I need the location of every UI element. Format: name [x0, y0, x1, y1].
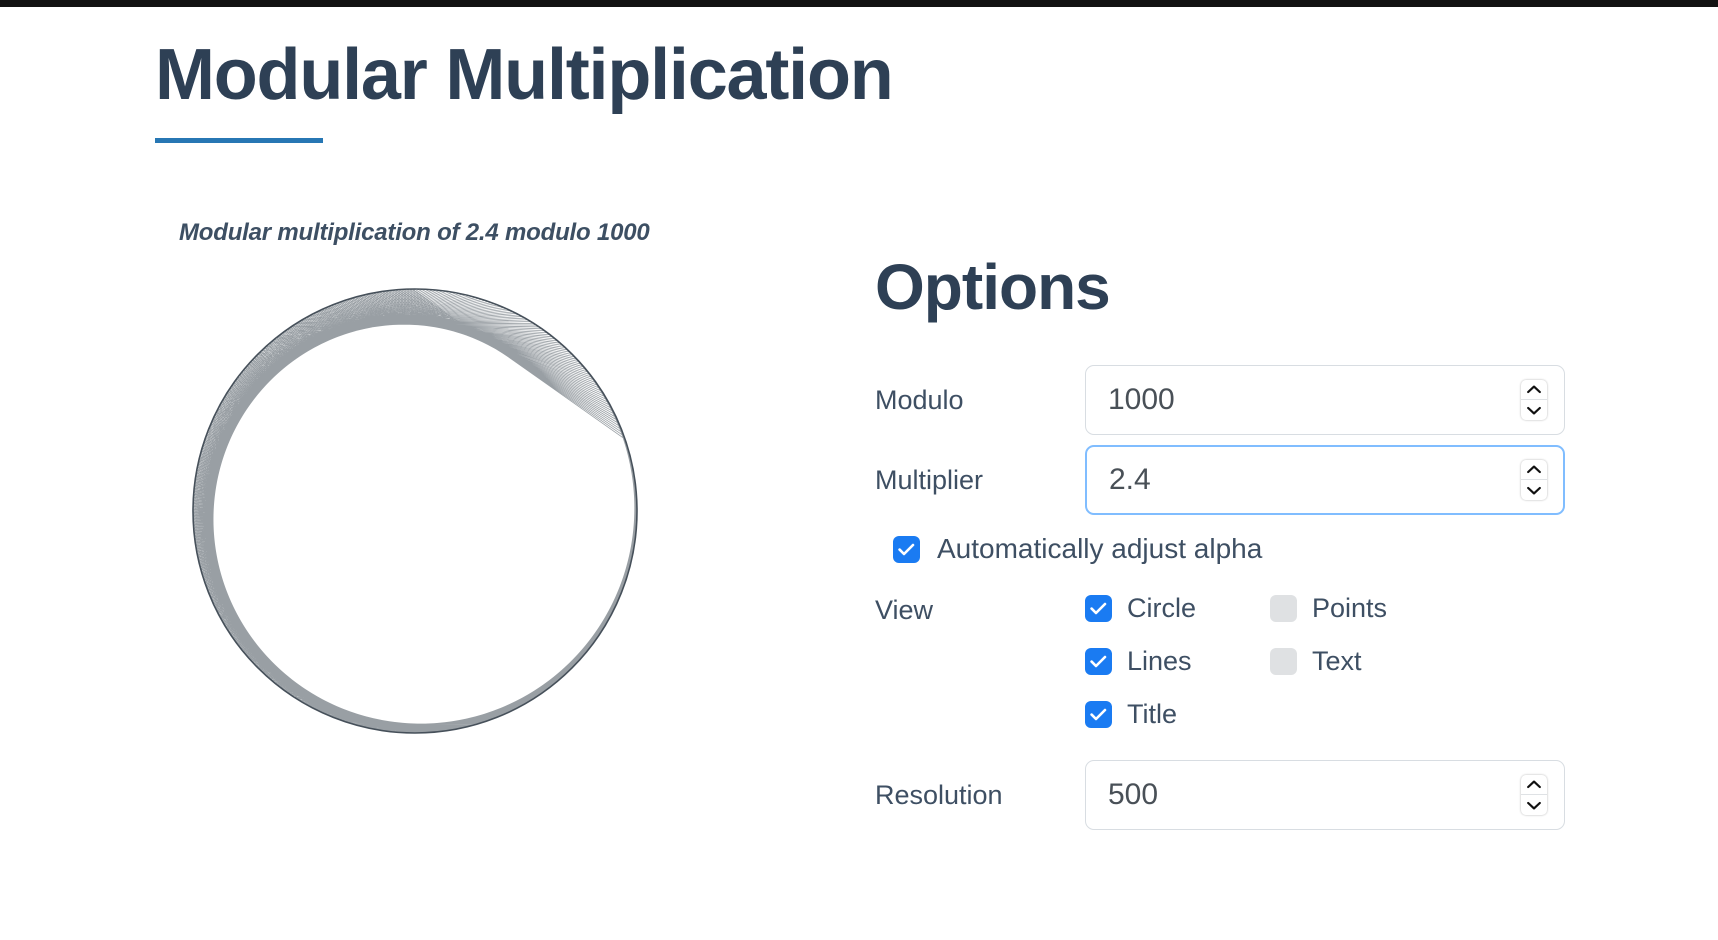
view-checkbox-grid: Circle Points Lines Text: [1085, 593, 1387, 730]
auto-alpha-checkbox[interactable]: [893, 536, 920, 563]
modulo-input[interactable]: [1085, 365, 1565, 435]
options-pane: Options Modulo: [875, 255, 1595, 840]
modulo-row: Modulo: [875, 365, 1595, 435]
figure-title: Modular multiplication of 2.4 modulo 100…: [179, 219, 855, 247]
multiplier-stepper[interactable]: [1521, 460, 1547, 500]
circle-label: Circle: [1127, 593, 1196, 624]
resolution-row: Resolution: [875, 760, 1595, 830]
multiplier-input[interactable]: [1085, 445, 1565, 515]
view-item-title[interactable]: Title: [1085, 699, 1270, 730]
resolution-stepper-down[interactable]: [1521, 795, 1547, 815]
check-icon: [898, 543, 915, 556]
view-row: View Circle Points: [875, 593, 1595, 730]
resolution-stepper[interactable]: [1521, 775, 1547, 815]
chord-path: [193, 289, 637, 733]
resolution-stepper-up[interactable]: [1521, 775, 1547, 795]
points-checkbox[interactable]: [1270, 595, 1297, 622]
view-item-circle[interactable]: Circle: [1085, 593, 1270, 624]
lines-label: Lines: [1127, 646, 1192, 677]
auto-alpha-row[interactable]: Automatically adjust alpha: [893, 533, 1595, 565]
chevron-up-icon: [1527, 385, 1541, 394]
multiplier-label: Multiplier: [875, 464, 1085, 496]
resolution-field-wrap: [1085, 760, 1565, 830]
multiplier-field-wrap: [1085, 445, 1565, 515]
modulo-stepper-down[interactable]: [1521, 400, 1547, 420]
figure-pane: Modular multiplication of 2.4 modulo 100…: [155, 219, 855, 779]
page-header: Modular Multiplication: [155, 39, 893, 143]
chevron-up-icon: [1527, 465, 1541, 474]
top-black-bar: [0, 0, 1718, 7]
view-label: View: [875, 593, 1085, 626]
check-icon: [1090, 602, 1107, 615]
modulo-label: Modulo: [875, 384, 1085, 416]
multiplier-stepper-down[interactable]: [1521, 480, 1547, 500]
view-item-lines[interactable]: Lines: [1085, 646, 1270, 677]
auto-alpha-label: Automatically adjust alpha: [937, 533, 1262, 565]
chevron-down-icon: [1527, 801, 1541, 810]
options-heading: Options: [875, 255, 1595, 319]
modulo-stepper-up[interactable]: [1521, 380, 1547, 400]
view-item-points[interactable]: Points: [1270, 593, 1387, 624]
points-label: Points: [1312, 593, 1387, 624]
title-label: Title: [1127, 699, 1177, 730]
circle-checkbox[interactable]: [1085, 595, 1112, 622]
modulo-stepper[interactable]: [1521, 380, 1547, 420]
check-icon: [1090, 708, 1107, 721]
multiplier-row: Multiplier: [875, 445, 1595, 515]
page-title: Modular Multiplication: [155, 39, 893, 112]
multiplier-stepper-up[interactable]: [1521, 460, 1547, 480]
view-item-text[interactable]: Text: [1270, 646, 1387, 677]
text-label: Text: [1312, 646, 1362, 677]
chevron-up-icon: [1527, 780, 1541, 789]
resolution-input[interactable]: [1085, 760, 1565, 830]
chevron-down-icon: [1527, 486, 1541, 495]
page-root: Modular Multiplication Modular multiplic…: [0, 7, 1718, 940]
modulo-field-wrap: [1085, 365, 1565, 435]
chord-lines-group: [193, 289, 637, 733]
resolution-label: Resolution: [875, 779, 1085, 811]
text-checkbox[interactable]: [1270, 648, 1297, 675]
title-checkbox[interactable]: [1085, 701, 1112, 728]
chevron-down-icon: [1527, 406, 1541, 415]
modular-multiplication-plot: [155, 261, 675, 761]
check-icon: [1090, 655, 1107, 668]
title-accent-rule: [155, 138, 323, 143]
lines-checkbox[interactable]: [1085, 648, 1112, 675]
